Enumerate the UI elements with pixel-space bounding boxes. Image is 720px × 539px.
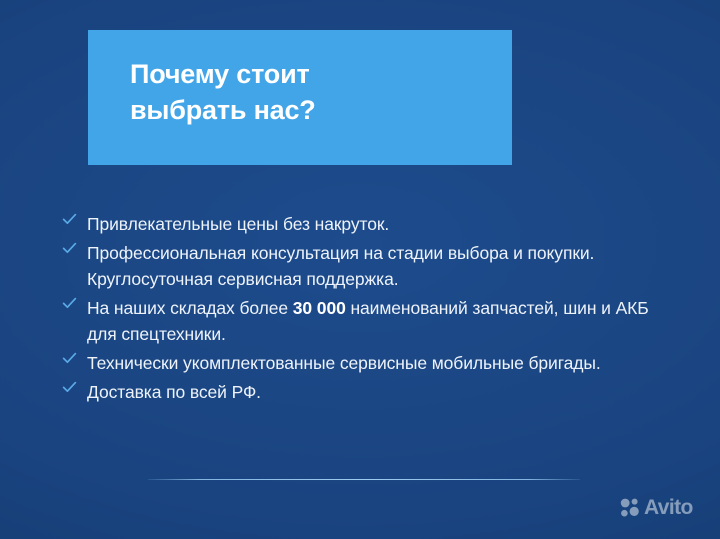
list-item: Доставка по всей РФ. — [62, 379, 662, 406]
list-item-label: Профессиональная консультация на стадии … — [87, 240, 662, 293]
list-item: Технически укомплектованные сервисные мо… — [62, 350, 662, 377]
check-icon — [62, 212, 77, 237]
list-item-label: Доставка по всей РФ. — [87, 379, 261, 406]
page-title: Почему стоит выбрать нас? — [130, 57, 500, 128]
divider — [148, 479, 580, 480]
list-item-label: На наших складах более 30 000 наименован… — [87, 295, 662, 348]
check-icon — [62, 380, 77, 405]
text-run: Привлекательные цены без накруток. — [87, 214, 389, 234]
check-icon — [62, 296, 77, 321]
avito-dots-icon — [620, 497, 641, 518]
title-box: Почему стоит выбрать нас? — [88, 30, 512, 165]
benefits-list: Привлекательные цены без накруток.Профес… — [62, 211, 662, 407]
avito-watermark: Avito — [620, 497, 693, 518]
list-item: Привлекательные цены без накруток. — [62, 211, 662, 238]
text-run: Технически укомплектованные сервисные мо… — [87, 353, 601, 373]
list-item: Профессиональная консультация на стадии … — [62, 240, 662, 293]
list-item: На наших складах более 30 000 наименован… — [62, 295, 662, 348]
check-icon — [62, 241, 77, 266]
text-run: Доставка по всей РФ. — [87, 382, 261, 402]
avito-watermark-label: Avito — [644, 497, 693, 518]
text-run: На наших складах более — [87, 298, 293, 318]
slide-canvas: Почему стоит выбрать нас? Привлекательны… — [0, 0, 720, 539]
list-item-label: Технически укомплектованные сервисные мо… — [87, 350, 601, 377]
check-icon — [62, 351, 77, 376]
text-run: Профессиональная консультация на стадии … — [87, 243, 594, 290]
list-item-label: Привлекательные цены без накруток. — [87, 211, 389, 238]
highlighted-quantity: 30 000 — [293, 298, 346, 318]
